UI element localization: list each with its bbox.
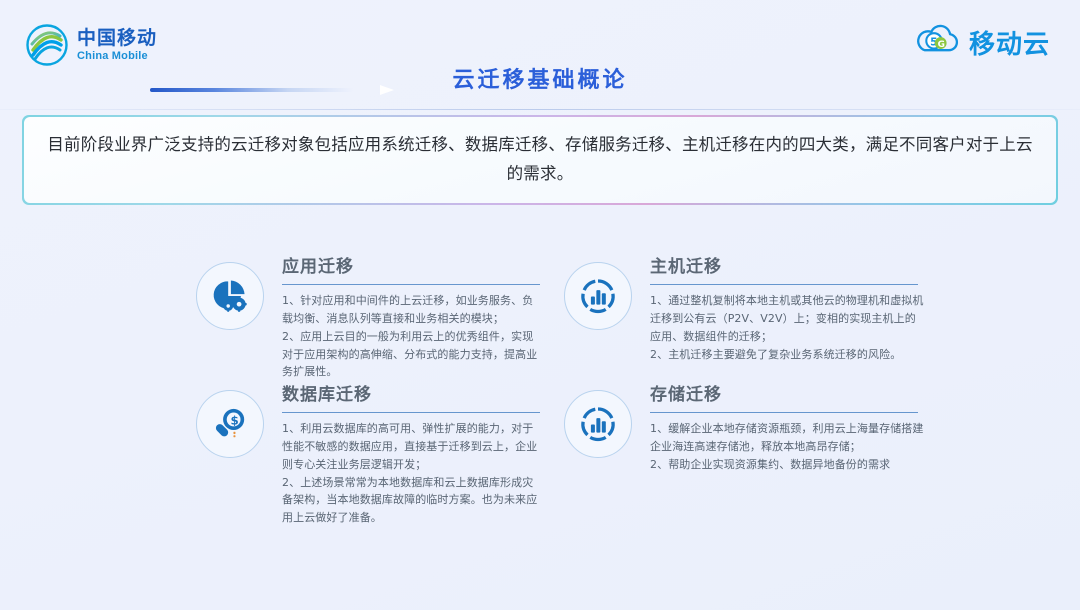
5g-cloud-icon: 5 G	[913, 23, 963, 61]
svg-text:$: $	[230, 413, 238, 427]
summary-banner-text: 目前阶段业界广泛支持的云迁移对象包括应用系统迁移、数据库迁移、存储服务迁移、主机…	[26, 131, 1054, 189]
card-body: 主机迁移 1、通过整机复制将本地主机或其他云的物理机和虚拟机迁移到公有云（P2V…	[650, 258, 924, 363]
header-divider	[0, 109, 1080, 110]
svg-text:G: G	[938, 40, 945, 50]
pie-chart-gears-icon	[196, 262, 264, 330]
china-mobile-logo-icon	[26, 24, 68, 66]
card-rule	[650, 412, 918, 414]
card-host-migration: 主机迁移 1、通过整机复制将本地主机或其他云的物理机和虚拟机迁移到公有云（P2V…	[564, 258, 924, 363]
card-text: 1、针对应用和中间件的上云迁移，如业务服务、负载均衡、消息队列等直接和业务相关的…	[282, 292, 544, 381]
summary-banner-inner: 目前阶段业界广泛支持的云迁移对象包括应用系统迁移、数据库迁移、存储服务迁移、主机…	[24, 117, 1056, 203]
card-database-migration: $ 数据库迁移 1、利用云数据库的高可用、弹性扩展的能力，对于性能不敏感的数据应…	[196, 386, 544, 527]
card-rule	[282, 284, 540, 286]
card-body: 存储迁移 1、缓解企业本地存储资源瓶颈，利用云上海量存储搭建企业海连高速存储池，…	[650, 386, 924, 474]
mobile-cloud-label: 移动云	[969, 24, 1050, 61]
card-application-migration: 应用迁移 1、针对应用和中间件的上云迁移，如业务服务、负载均衡、消息队列等直接和…	[196, 258, 544, 381]
brand-name-cn: 中国移动	[77, 29, 157, 48]
china-mobile-logo: 中国移动 China Mobile	[26, 24, 157, 66]
card-body: 应用迁移 1、针对应用和中间件的上云迁移，如业务服务、负载均衡、消息队列等直接和…	[282, 258, 544, 381]
card-title: 数据库迁移	[282, 386, 544, 412]
slide-canvas: 中国移动 China Mobile 云迁移基础概论 5 G 移动云 目前阶段业界…	[0, 0, 1080, 610]
title-accent-rule	[150, 88, 380, 92]
summary-banner: 目前阶段业界广泛支持的云迁移对象包括应用系统迁移、数据库迁移、存储服务迁移、主机…	[22, 115, 1058, 205]
card-title: 存储迁移	[650, 386, 924, 412]
brand-name-en: China Mobile	[77, 51, 157, 62]
card-rule	[650, 284, 918, 286]
card-text: 1、缓解企业本地存储资源瓶颈，利用云上海量存储搭建企业海连高速存储池，释放本地高…	[650, 420, 924, 473]
card-storage-migration: 存储迁移 1、缓解企业本地存储资源瓶颈，利用云上海量存储搭建企业海连高速存储池，…	[564, 386, 924, 474]
card-body: 数据库迁移 1、利用云数据库的高可用、弹性扩展的能力，对于性能不敏感的数据应用，…	[282, 386, 544, 527]
card-rule	[282, 412, 540, 414]
mobile-cloud-logo: 5 G 移动云	[913, 23, 1050, 61]
card-title: 应用迁移	[282, 258, 544, 284]
card-text: 1、利用云数据库的高可用、弹性扩展的能力，对于性能不敏感的数据应用，直接基于迁移…	[282, 420, 544, 527]
slide-header: 中国移动 China Mobile 云迁移基础概论 5 G 移动云	[0, 0, 1080, 110]
donut-bar-chart-icon	[564, 390, 632, 458]
card-text: 1、通过整机复制将本地主机或其他云的物理机和虚拟机迁移到公有云（P2V、V2V）…	[650, 292, 924, 363]
donut-bar-chart-icon	[564, 262, 632, 330]
card-title: 主机迁移	[650, 258, 924, 284]
magnifier-dollar-icon: $	[196, 390, 264, 458]
